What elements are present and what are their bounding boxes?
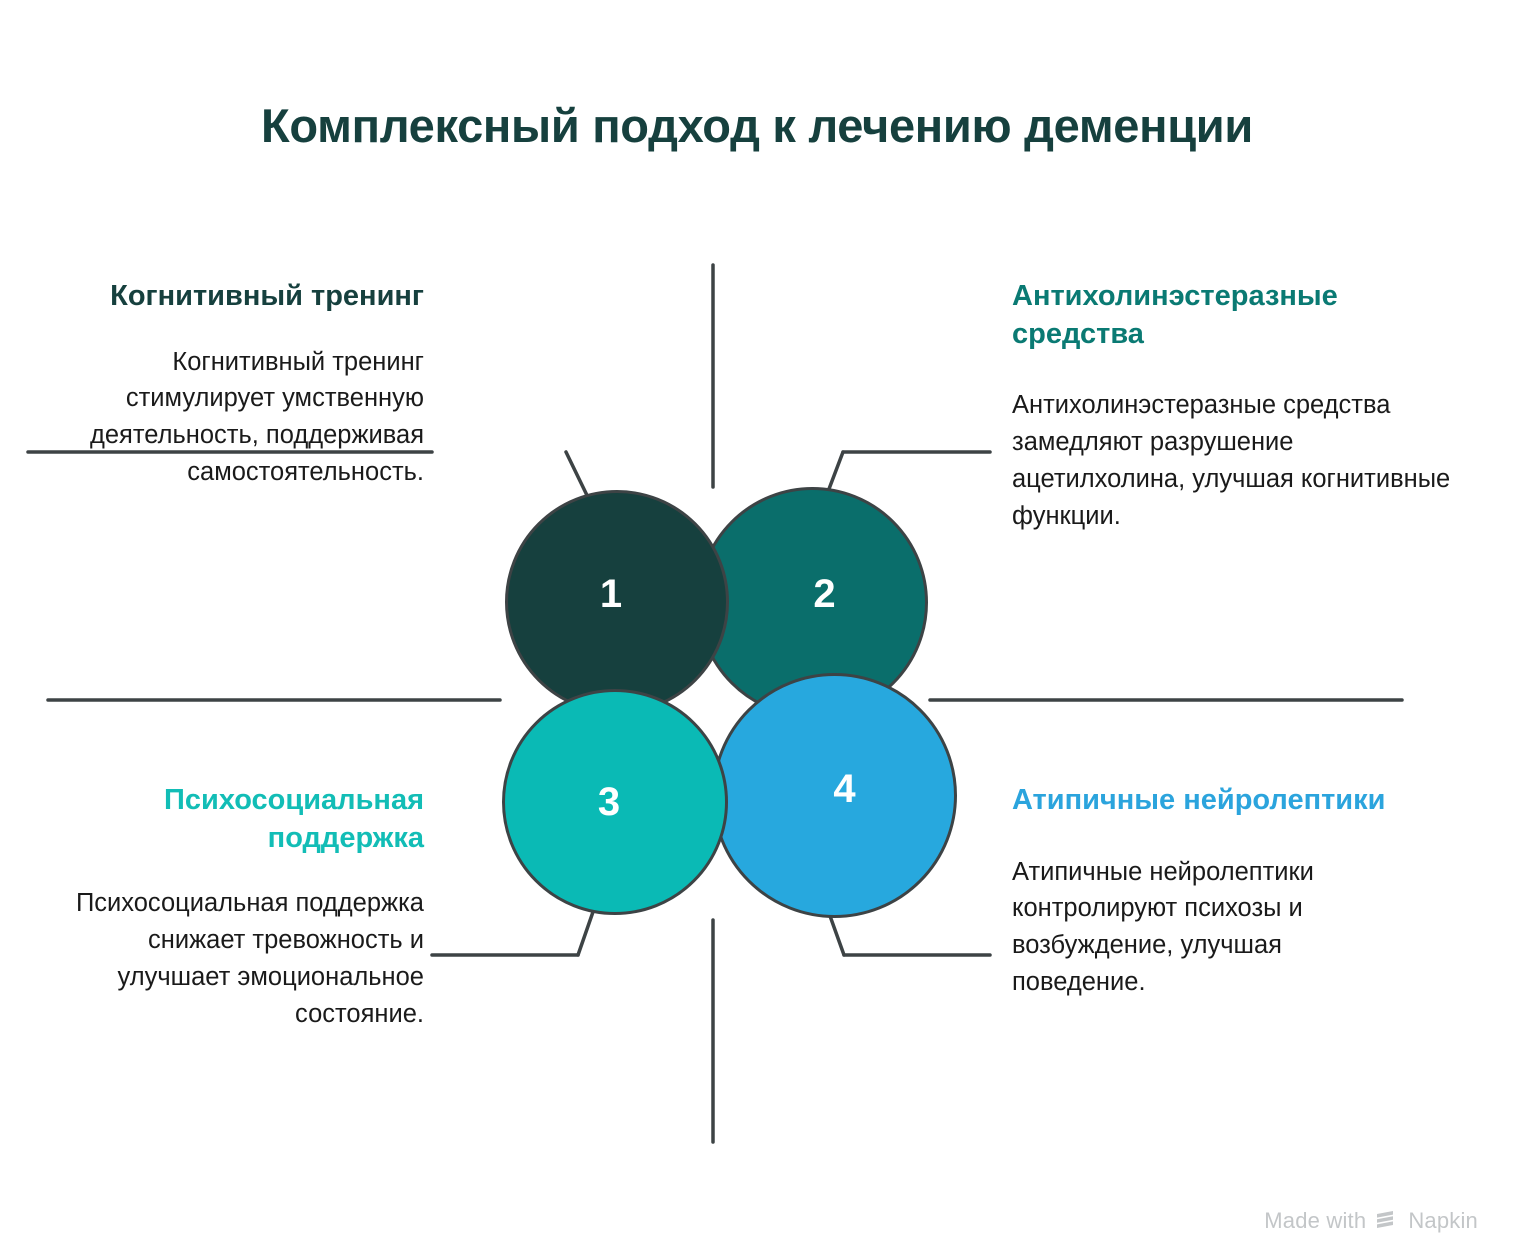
quadrant-bottom-right: Атипичные нейролептики Атипичные нейроле… xyxy=(1012,782,1412,1001)
quadrant-1-heading: Когнитивный тренинг xyxy=(64,278,424,316)
venn-circle-1-number: 1 xyxy=(600,572,622,617)
watermark-text: Made with xyxy=(1264,1208,1366,1234)
venn-circle-2-number: 2 xyxy=(813,572,835,617)
quadrant-2-body: Антихолинэстеразные средства замедляют р… xyxy=(1012,387,1452,534)
page-title: Комплексный подход к лечению деменции xyxy=(0,98,1514,153)
venn-circle-4[interactable]: 4 xyxy=(712,673,957,918)
quadrant-3-body: Психосоциальная поддержка снижает тревож… xyxy=(44,885,424,1032)
napkin-logo-icon xyxy=(1375,1210,1399,1232)
quadrant-bottom-left: Психосоциальная поддержка Психосоциальна… xyxy=(44,782,424,1032)
venn-circle-4-number: 4 xyxy=(833,767,855,812)
venn-circle-1[interactable]: 1 xyxy=(505,490,729,714)
quadrant-3-heading: Психосоциальная поддержка xyxy=(44,782,424,857)
venn-circle-3-number: 3 xyxy=(598,780,620,825)
quadrant-top-right: Антихолинэстеразные средства Антихолинэс… xyxy=(1012,278,1452,534)
quadrant-top-left: Когнитивный тренинг Когнитивный тренинг … xyxy=(64,278,424,491)
quadrant-4-body: Атипичные нейролептики контролируют псих… xyxy=(1012,854,1412,1001)
quadrant-4-heading: Атипичные нейролептики xyxy=(1012,782,1412,820)
watermark-brand: Napkin xyxy=(1408,1208,1478,1234)
watermark: Made with Napkin xyxy=(1264,1208,1478,1234)
quadrant-2-heading: Антихолинэстеразные средства xyxy=(1012,278,1452,353)
quadrant-1-body: Когнитивный тренинг стимулирует умственн… xyxy=(64,344,424,491)
venn-circle-3[interactable]: 3 xyxy=(502,689,728,915)
